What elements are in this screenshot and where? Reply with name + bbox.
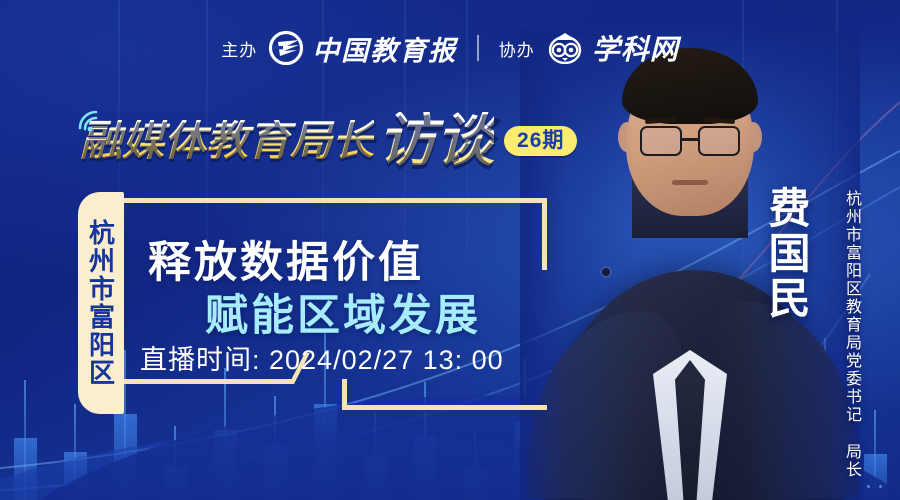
china-education-news-logo-icon: [268, 30, 304, 66]
headline-line-2: 赋能区域发展: [205, 281, 481, 343]
wifi-broadcast-icon: [76, 106, 106, 132]
program-title-lockup: 融媒体教育局长 访谈 26期: [72, 112, 577, 170]
program-title-part1: 融媒体教育局长: [80, 120, 374, 162]
sponsor-header: 主办 中国教育报 协办: [0, 28, 900, 68]
live-time-text: 直播时间: 2024/02/27 13: 00: [140, 338, 504, 377]
xkw-owl-logo-icon: [546, 32, 584, 64]
host-label: 主办: [221, 36, 257, 61]
program-title-part2: 访谈: [378, 112, 494, 170]
lapel-microphone-icon: [602, 268, 610, 276]
header-divider: [477, 35, 479, 61]
cohost-label: 协办: [499, 36, 535, 61]
cohost-org-name: 学科网: [592, 28, 679, 68]
episode-badge: 26期: [504, 126, 577, 156]
guest-name: 费国民: [748, 186, 808, 321]
cohost-brand: 学科网: [546, 28, 679, 68]
cohost-group: 协办 学科网: [499, 28, 679, 68]
program-title: 融媒体教育局长 访谈 26期: [72, 112, 577, 170]
region-tag: 杭州市富阳区: [78, 192, 124, 414]
guest-title: 杭州市富阳区教育局党委书记 局长: [836, 190, 862, 479]
region-tag-label: 杭州市富阳区: [83, 219, 120, 387]
poster-canvas: 主办 中国教育报 协办: [0, 0, 900, 500]
host-brand: 中国教育报: [268, 29, 457, 68]
host-group: 主办 中国教育报: [221, 29, 457, 68]
host-org-name: 中国教育报: [312, 29, 457, 68]
